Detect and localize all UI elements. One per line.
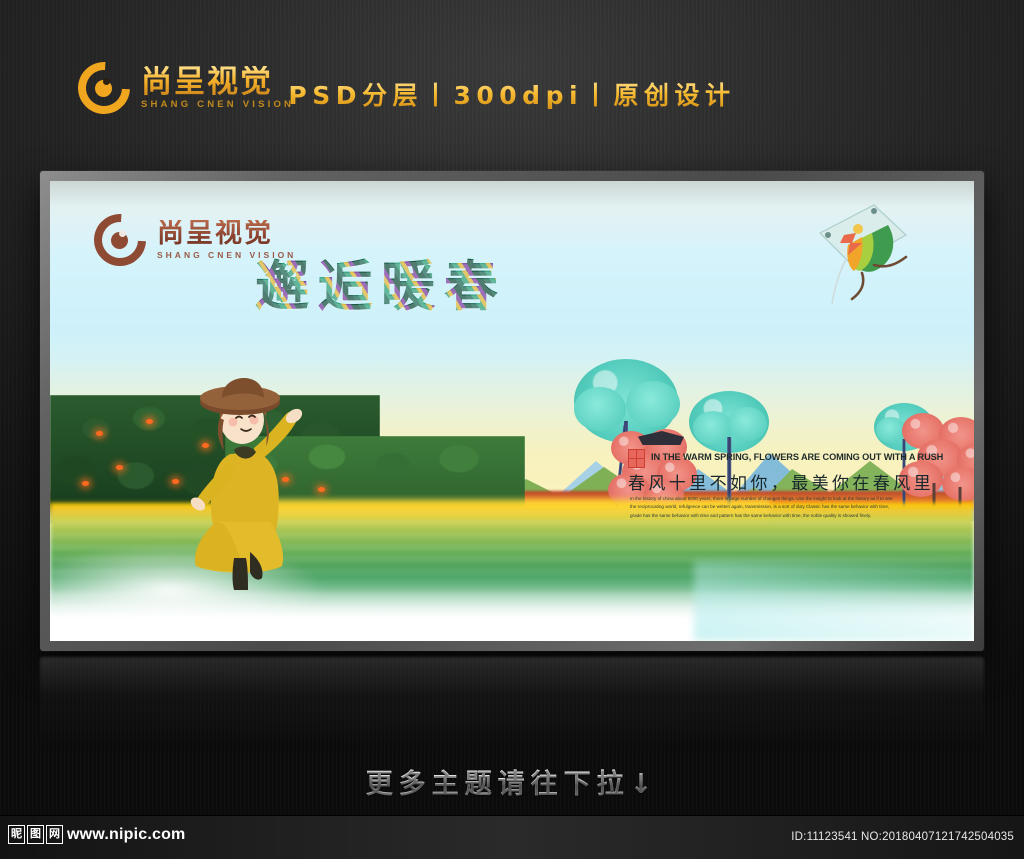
lantern-glow-icon [96, 431, 103, 436]
kite-icon [802, 199, 922, 304]
poster-reflection [40, 657, 984, 749]
nipic-char: 昵 [8, 825, 25, 844]
poster-frame: 尚呈视觉 SHANG CNEN VISION 邂逅暖春 IN THE WARM … [40, 171, 984, 651]
nipic-branding[interactable]: 昵 图 网 www.nipic.com [8, 825, 185, 844]
spec-line: PSD分层丨300dpi丨原创设计 [0, 76, 1024, 112]
girl-character [178, 376, 314, 591]
nipic-logo-cn: 昵 图 网 [8, 825, 63, 844]
image-id-line: ID:11123541 NO:20180407121742504035 [791, 831, 1014, 843]
chinese-subtitle: 春风十里不如你，最美你在春风里 [628, 469, 934, 494]
red-chinese-seal-icon [628, 449, 645, 468]
lantern-glow-icon [146, 419, 153, 424]
lantern-glow-icon [82, 481, 89, 486]
footer-bar: 昵 图 网 www.nipic.com ID:11123541 NO:20180… [0, 815, 1024, 859]
shangcen-eye-logo-icon [94, 214, 146, 266]
poster-canvas: 尚呈视觉 SHANG CNEN VISION 邂逅暖春 IN THE WARM … [50, 181, 974, 641]
lantern-glow-icon [318, 487, 325, 492]
more-themes-label: 更多主题请往下拉↓ [0, 762, 1024, 801]
poster-title: 邂逅暖春 [255, 242, 507, 321]
page-background: 尚呈视觉 SHANG CNEN VISION PSD分层丨300dpi丨原创设计 [0, 0, 1024, 859]
poster-text-block: IN THE WARM SPRING, FLOWERS ARE COMING O… [628, 449, 908, 529]
water-cyan-tint [694, 561, 974, 641]
nipic-url[interactable]: www.nipic.com [67, 826, 185, 844]
body-copy: In the history of china about 5000 years… [630, 495, 898, 520]
english-headline: IN THE WARM SPRING, FLOWERS ARE COMING O… [651, 452, 943, 462]
top-bar: 尚呈视觉 SHANG CNEN VISION PSD分层丨300dpi丨原创设计 [0, 0, 1024, 160]
lantern-glow-icon [116, 465, 123, 470]
nipic-char: 网 [46, 825, 63, 844]
nipic-char: 图 [27, 825, 44, 844]
